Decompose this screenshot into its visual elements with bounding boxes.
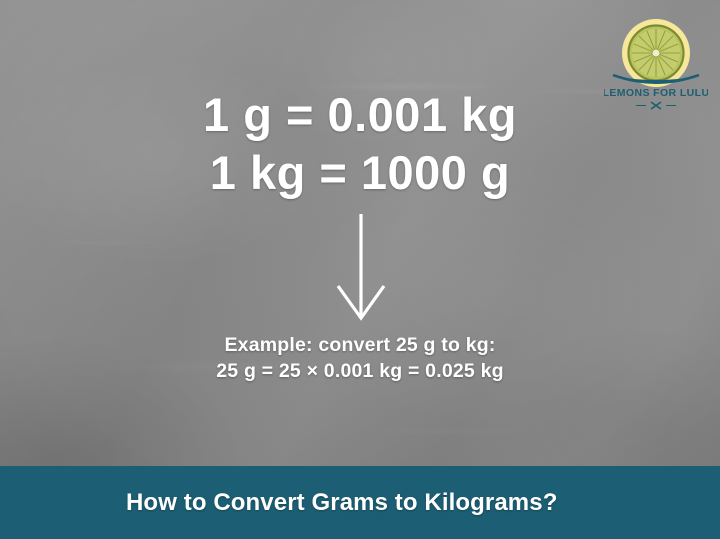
down-arrow-icon: [330, 210, 392, 325]
formula-block: 1 g = 0.001 kg 1 kg = 1000 g: [0, 86, 720, 202]
formula-line-g-to-kg: 1 g = 0.001 kg: [0, 86, 720, 144]
logo-lemon-center: [653, 50, 660, 57]
banner-title: How to Convert Grams to Kilograms?: [126, 489, 557, 517]
example-prompt: Example: convert 25 g to kg:: [0, 332, 720, 358]
example-calculation: 25 g = 25 × 0.001 kg = 0.025 kg: [0, 358, 720, 384]
formula-line-kg-to-g: 1 kg = 1000 g: [0, 144, 720, 202]
infographic-slide: LEMONS FOR LULU 1 g = 0.001 kg 1 kg = 10…: [0, 0, 720, 539]
example-block: Example: convert 25 g to kg: 25 g = 25 ×…: [0, 332, 720, 384]
bottom-banner: How to Convert Grams to Kilograms?: [0, 466, 720, 539]
